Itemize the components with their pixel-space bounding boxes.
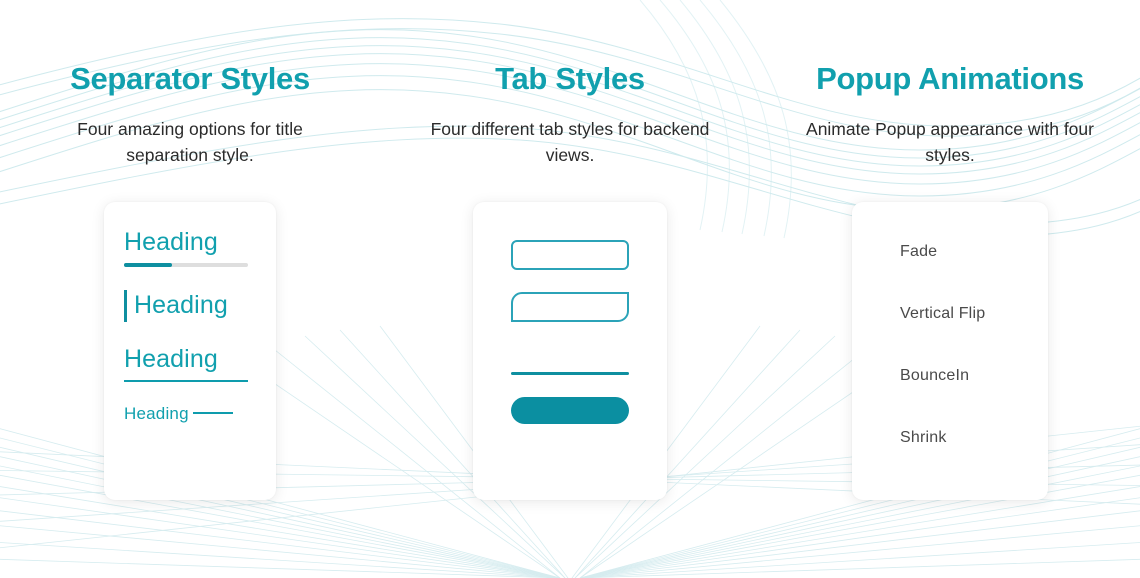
separator-heading-label: Heading xyxy=(124,405,189,422)
separator-styles-card: Heading Heading Heading Heading xyxy=(104,202,276,500)
column-tab-styles: Tab Styles Four different tab styles for… xyxy=(380,62,760,578)
trailing-line-rule xyxy=(193,412,233,414)
popup-animations-card: Fade Vertical Flip BounceIn Shrink xyxy=(852,202,1048,500)
tab-preview-filled-pill[interactable] xyxy=(511,397,629,424)
separator-heading-label: Heading xyxy=(124,228,248,258)
split-underline-rule xyxy=(124,263,248,267)
subtitle-separator-styles: Four amazing options for title separatio… xyxy=(35,116,345,169)
page-title-popup-animations: Popup Animations xyxy=(816,62,1084,96)
separator-heading-label: Heading xyxy=(124,345,248,375)
tab-preview-rounded-rect-outline[interactable] xyxy=(511,240,629,270)
tab-preview-underline-bar[interactable] xyxy=(511,372,629,375)
separator-preview-split-underline[interactable]: Heading xyxy=(124,228,248,268)
popup-animation-option-shrink[interactable]: Shrink xyxy=(852,430,947,446)
tab-preview-diagonal-rounded-outline[interactable] xyxy=(511,292,629,322)
popup-animation-option-vertical-flip[interactable]: Vertical Flip xyxy=(852,306,985,322)
separator-heading-label: Heading xyxy=(134,291,228,321)
popup-animation-option-bouncein[interactable]: BounceIn xyxy=(852,368,969,384)
subtitle-tab-styles: Four different tab styles for backend vi… xyxy=(415,116,725,169)
tab-styles-card xyxy=(473,202,667,500)
subtitle-popup-animations: Animate Popup appearance with four style… xyxy=(795,116,1105,169)
separator-preview-left-vertical-bar[interactable]: Heading xyxy=(124,290,228,322)
separator-preview-inline-trailing-line[interactable]: Heading xyxy=(124,405,233,422)
popup-animation-option-fade[interactable]: Fade xyxy=(852,244,937,260)
separator-preview-full-underline[interactable]: Heading xyxy=(124,345,248,382)
page-title-tab-styles: Tab Styles xyxy=(495,62,645,96)
column-separator-styles: Separator Styles Four amazing options fo… xyxy=(0,62,380,578)
full-underline-rule xyxy=(124,380,248,382)
column-popup-animations: Popup Animations Animate Popup appearanc… xyxy=(760,62,1140,578)
page-title-separator-styles: Separator Styles xyxy=(70,62,310,96)
feature-columns: Separator Styles Four amazing options fo… xyxy=(0,0,1140,578)
vertical-bar-rule xyxy=(124,290,127,322)
